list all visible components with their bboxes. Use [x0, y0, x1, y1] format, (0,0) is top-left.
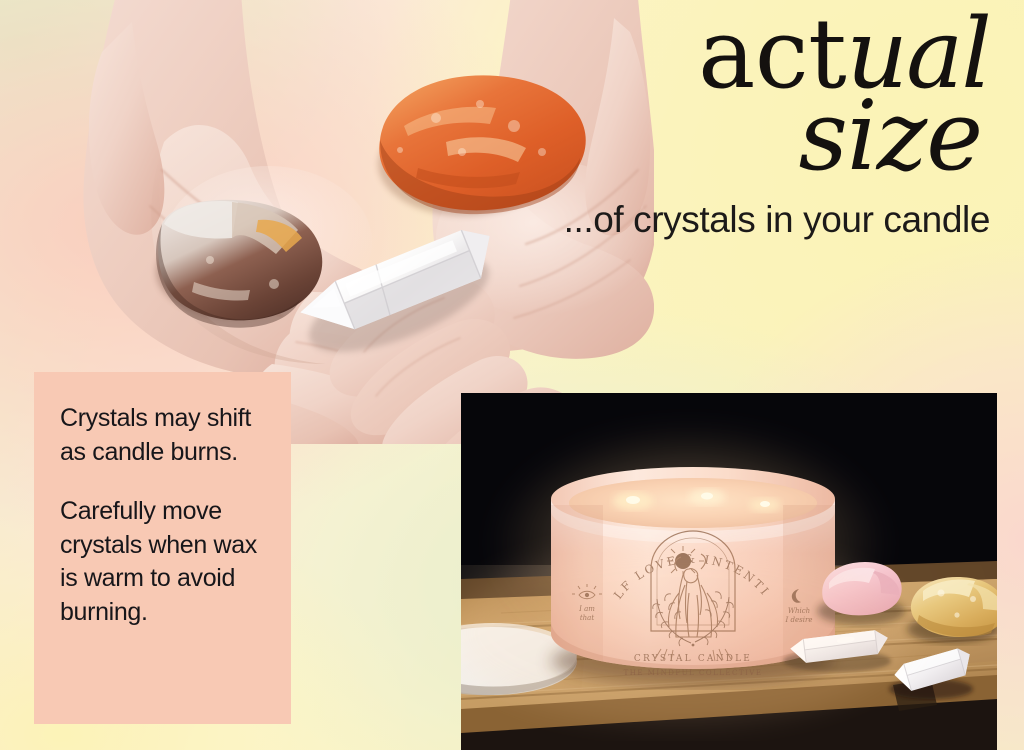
poster-canvas: SELF LOVE & INTENTION	[0, 0, 1024, 750]
info-card: Crystals may shift as candle burns. Care…	[34, 372, 291, 724]
info-paragraph-1: Crystals may shift as candle burns.	[60, 402, 265, 469]
info-paragraph-2: Carefully move crystals when wax is warm…	[60, 495, 265, 629]
page-title: actual size	[526, 10, 996, 181]
subheadline: ...of crystals in your candle	[526, 199, 996, 242]
candle-product-photo: SELF LOVE & INTENTION	[461, 393, 997, 750]
headline-block: actual size ...of crystals in your candl…	[526, 10, 996, 242]
